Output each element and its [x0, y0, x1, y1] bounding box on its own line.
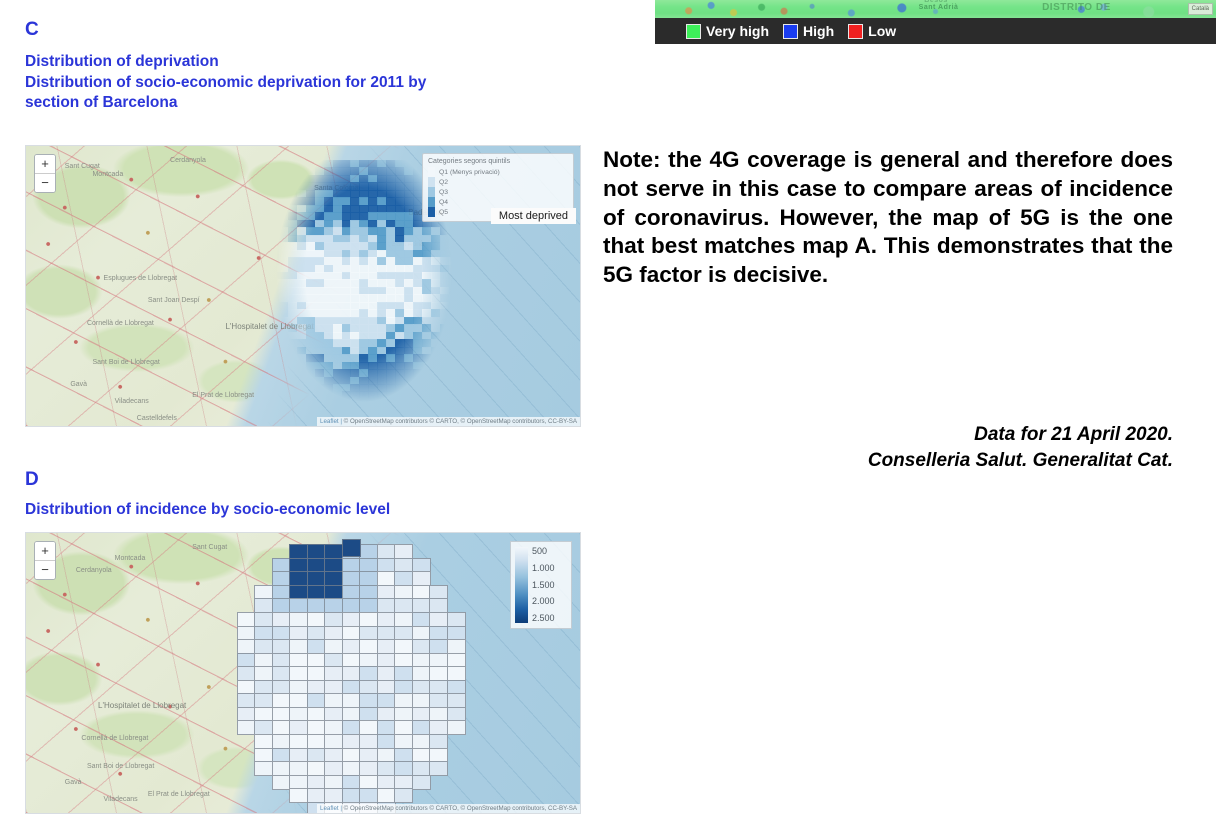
map-c-deprivation[interactable]: MontcadaCerdanyolaSant CugatBadalonaSant…	[25, 145, 581, 427]
map-d-neighbourhood-cell	[447, 720, 466, 735]
coverage-legend-bar: Very high High Low	[655, 18, 1216, 44]
map-d-legend-tick: 1.500	[532, 581, 567, 590]
map-c-zoom-control[interactable]: + −	[34, 154, 56, 193]
map-c-section-cell	[413, 399, 423, 407]
map-d-place-label: Sant Boi de Llobregat	[87, 763, 154, 770]
panel-d-letter: D	[25, 470, 39, 489]
panel-c-title-line-2: Distribution of socio-economic deprivati…	[25, 73, 605, 94]
map-c-place-label: Montcada	[92, 171, 123, 178]
legend-label-high: High	[803, 24, 834, 38]
legend-swatch-very-high	[686, 24, 701, 39]
panel-c-title-line-1: Distribution of deprivation	[25, 52, 605, 73]
map-c-section-cell	[440, 369, 450, 377]
map-c-legend-label: Q2	[439, 179, 448, 186]
map-d-attribution-leaflet[interactable]: Leaflet |	[320, 805, 344, 812]
map-d-neighbourhood-cell	[342, 539, 361, 557]
legend-item-very-high: Very high	[686, 24, 769, 39]
map-d-neighbourhood-cell	[412, 775, 431, 790]
map-c-legend-label: Q4	[439, 199, 448, 206]
map-d-legend-tick: 500	[532, 547, 567, 556]
legend-item-high: High	[783, 24, 834, 39]
map-d-legend-tick: 2.500	[532, 614, 567, 623]
map-d-legend-ticks: 5001.0001.5002.0002.500	[528, 547, 567, 623]
map-c-legend-row: Q4	[428, 197, 568, 207]
map-c-legend-swatch	[428, 197, 435, 207]
map-d-neighbourhood-cell	[254, 761, 273, 776]
map-d-place-label: L'Hospitalet de Llobregat	[98, 701, 186, 710]
data-credit: Data for 21 April 2020. Conselleria Salu…	[603, 422, 1173, 473]
map-d-legend-tick: 2.000	[532, 597, 567, 606]
credit-line-1: Data for 21 April 2020.	[603, 422, 1173, 448]
map-c-zoom-out-button[interactable]: −	[35, 174, 55, 192]
map-d-place-label: Sant Cugat	[192, 544, 227, 551]
map-d-place-label: Gavà	[65, 779, 82, 786]
legend-item-low: Low	[848, 24, 896, 39]
strip-label-2: DISTRITO DE	[1042, 2, 1111, 13]
map-c-legend-row: Q1 (Menys privació)	[428, 167, 568, 177]
legend-label-very-high: Very high	[706, 24, 769, 38]
map-c-zoom-in-button[interactable]: +	[35, 155, 55, 174]
map-c-legend-swatch	[428, 167, 435, 177]
map-c-most-deprived-callout: Most deprived	[491, 208, 576, 224]
map-d-place-label: Cerdanyola	[76, 567, 112, 574]
map-d-neighbourhood-cell	[394, 788, 413, 803]
map-c-place-label: Castelldefels	[137, 415, 177, 422]
map-d-incidence[interactable]: MontcadaSant CugatCerdanyolaBadalonaSant…	[25, 532, 581, 814]
map-c-legend-label: Q3	[439, 189, 448, 196]
map-c-legend-row: Q3	[428, 187, 568, 197]
map-c-legend-row: Q2	[428, 177, 568, 187]
note-paragraph: Note: the 4G coverage is general and the…	[603, 146, 1173, 290]
map-d-neighbourhood-cell	[289, 788, 308, 803]
map-c-legend-swatch	[428, 187, 435, 197]
map-d-legend-tick: 1.000	[532, 564, 567, 573]
map-d-zoom-control[interactable]: + −	[34, 541, 56, 580]
map-c-place-label: Cerdanyola	[170, 157, 206, 164]
strip-corner-badge: Català	[1188, 3, 1213, 15]
map-d-neighbourhood-cell	[429, 761, 448, 776]
map-c-legend-label: Q5	[439, 209, 448, 216]
map-c-legend-title: Categories segons quintils	[428, 158, 568, 165]
map-c-legend-label: Q1 (Menys privació)	[439, 169, 500, 176]
map-c-section-cell	[449, 354, 459, 362]
legend-swatch-low	[848, 24, 863, 39]
map-d-attribution[interactable]: Leaflet | © OpenStreetMap contributors ©…	[317, 804, 580, 813]
map-c-place-label: Viladecans	[115, 398, 149, 405]
panel-c-title: Distribution of deprivation Distribution…	[25, 52, 605, 114]
map-c-place-label: Esplugues de Llobregat	[104, 275, 178, 282]
map-c-place-label: Sant Cugat	[65, 163, 100, 170]
map-d-neighbourhood-cell	[237, 720, 256, 735]
map-d-zoom-out-button[interactable]: −	[35, 561, 55, 579]
coverage-map-strip: Sant Adrià Besòs DISTRITO DE Català	[655, 0, 1216, 18]
map-c-place-label: Gavà	[70, 381, 87, 388]
map-c-legend-swatch	[428, 207, 435, 217]
strip-label-1: Besòs	[924, 0, 948, 4]
map-d-zoom-in-button[interactable]: +	[35, 542, 55, 561]
credit-line-2: Conselleria Salut. Generalitat Cat.	[603, 448, 1173, 474]
map-c-section-cell	[422, 391, 432, 399]
legend-swatch-high	[783, 24, 798, 39]
panel-d-title: Distribution of incidence by socio-econo…	[25, 500, 605, 521]
map-d-legend-gradient	[515, 547, 528, 623]
legend-label-low: Low	[868, 24, 896, 38]
map-d-place-label: Montcada	[115, 555, 146, 562]
map-c-place-label: Sant Joan Despí	[148, 297, 200, 304]
map-c-section-cell	[431, 384, 441, 392]
map-c-attribution[interactable]: Leaflet | © OpenStreetMap contributors ©…	[317, 417, 580, 426]
strip-label-0: Sant Adrià	[919, 4, 959, 11]
panel-c-letter: C	[25, 20, 39, 39]
map-c-attribution-leaflet[interactable]: Leaflet |	[320, 418, 344, 425]
map-d-place-label: Viladecans	[104, 796, 138, 803]
map-c-attribution-text: © OpenStreetMap contributors © CARTO, © …	[344, 418, 577, 425]
map-c-legend-swatch	[428, 177, 435, 187]
map-c-place-label: Sant Boi de Llobregat	[92, 359, 159, 366]
map-c-place-label: Cornellà de Llobregat	[87, 320, 154, 327]
panel-c-title-line-3: section of Barcelona	[25, 93, 605, 114]
map-d-attribution-text: © OpenStreetMap contributors © CARTO, © …	[344, 805, 577, 812]
map-d-place-label: Cornellà de Llobregat	[81, 735, 148, 742]
map-d-neighbourhood-cell	[272, 775, 291, 790]
map-d-place-label: El Prat de Llobregat	[148, 791, 210, 798]
map-d-legend: 5001.0001.5002.0002.500	[510, 541, 572, 629]
map-c-place-label: El Prat de Llobregat	[192, 392, 254, 399]
map-d-choropleth	[237, 544, 448, 802]
